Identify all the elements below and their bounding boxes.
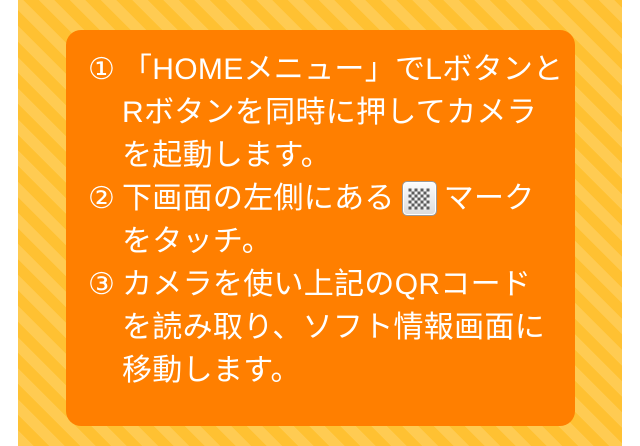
step-body-2: 下画面の左側にある (122, 177, 561, 263)
steps-list: ① 「HOMEメニュー」でLボタンと Rボタンを同時に押してカメラ を起動します… (88, 48, 561, 392)
step-line: Rボタンを同時に押してカメラ (122, 91, 563, 134)
step-line: カメラを使い上記のQRコード (122, 263, 561, 306)
step-marker-3: ③ (88, 263, 122, 306)
step-marker-1: ① (88, 48, 122, 91)
screenshot-root: ① 「HOMEメニュー」でLボタンと Rボタンを同時に押してカメラ を起動します… (0, 0, 640, 446)
step-item-1: ① 「HOMEメニュー」でLボタンと Rボタンを同時に押してカメラ を起動します… (88, 48, 561, 177)
step-line-text-before: 下画面の左側にある (122, 177, 395, 220)
step-line: 「HOMEメニュー」でLボタンと (122, 48, 563, 91)
step-item-3: ③ カメラを使い上記のQRコード を読み取り、ソフト情報画面に 移動します。 (88, 263, 561, 392)
step-item-2: ② 下画面の左側にある (88, 177, 561, 263)
step-line: を読み取り、ソフト情報画面に (122, 306, 561, 349)
step-line: を起動します。 (122, 134, 563, 177)
step-line-text-after: マーク (444, 177, 535, 220)
step-line: をタッチ。 (122, 220, 561, 263)
step-body-3: カメラを使い上記のQRコード を読み取り、ソフト情報画面に 移動します。 (122, 263, 561, 392)
qr-code-icon (402, 181, 437, 216)
instruction-card: ① 「HOMEメニュー」でLボタンと Rボタンを同時に押してカメラ を起動します… (66, 30, 575, 426)
step-body-1: 「HOMEメニュー」でLボタンと Rボタンを同時に押してカメラ を起動します。 (122, 48, 563, 177)
step-line: 移動します。 (122, 349, 561, 392)
step-line: 下画面の左側にある (122, 177, 561, 220)
step-marker-2: ② (88, 177, 122, 220)
